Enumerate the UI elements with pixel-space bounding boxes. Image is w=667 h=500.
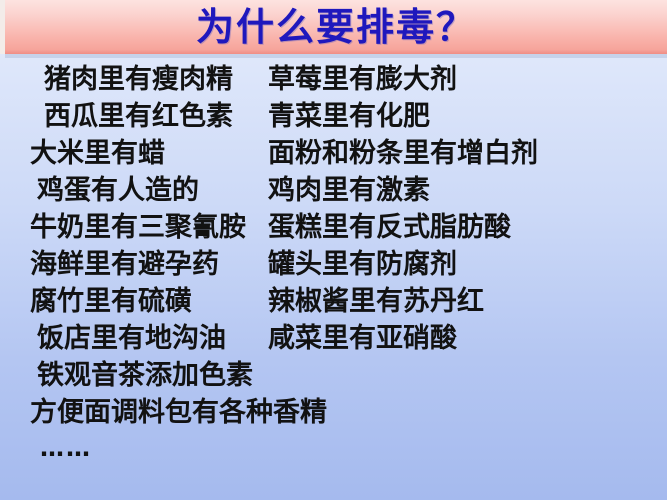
list-item-right-text: 罐头里有防腐剂	[268, 242, 457, 281]
list-item: 饭店里有地沟油 咸菜里有亚硝酸	[0, 317, 667, 354]
list-item: 大米里有蜡 面粉和粉条里有增白剂	[0, 132, 667, 169]
list-item-right-text: 草莓里有膨大剂	[268, 57, 457, 96]
list-item-right-text: 辣椒酱里有苏丹红	[268, 279, 484, 318]
list-item: 腐竹里有硫磺 辣椒酱里有苏丹红	[0, 280, 667, 317]
list-item: 铁观音茶添加色素	[0, 354, 667, 391]
list-item-left-text: 西瓜里有红色素	[0, 94, 268, 133]
list-item: 鸡蛋有人造的 鸡肉里有激素	[0, 169, 667, 206]
list-item-right-text: 咸菜里有亚硝酸	[268, 316, 457, 355]
title-banner: 为什么要排毒？	[0, 0, 667, 54]
list-item-left-text: 方便面调料包有各种香精	[0, 390, 327, 429]
page-title: 为什么要排毒？	[5, 1, 667, 53]
list-item-left-text: 海鲜里有避孕药	[0, 242, 268, 281]
list-item-left-text: 腐竹里有硫磺	[0, 279, 268, 318]
list-item-right-text: 蛋糕里有反式脂肪酸	[268, 205, 511, 244]
list-item: 方便面调料包有各种香精	[0, 391, 667, 428]
toxin-list: 猪肉里有瘦肉精 草莓里有膨大剂 西瓜里有红色素 青菜里有化肥 大米里有蜡 面粉和…	[0, 58, 667, 468]
list-item: 西瓜里有红色素 青菜里有化肥	[0, 95, 667, 132]
list-item: 猪肉里有瘦肉精 草莓里有膨大剂	[0, 58, 667, 95]
list-item-left-text: 铁观音茶添加色素	[0, 353, 253, 392]
list-item-right-text: 面粉和粉条里有增白剂	[268, 131, 538, 170]
list-item-left-text: 猪肉里有瘦肉精	[0, 57, 268, 96]
list-item-right-text: 鸡肉里有激素	[268, 168, 430, 207]
list-item-left-text: 鸡蛋有人造的	[0, 168, 268, 207]
list-item: 海鲜里有避孕药 罐头里有防腐剂	[0, 243, 667, 280]
list-ellipsis: ……	[0, 428, 667, 468]
list-item-right-text: 青菜里有化肥	[268, 94, 430, 133]
list-item-left-text: 饭店里有地沟油	[0, 316, 268, 355]
list-item: 牛奶里有三聚氰胺 蛋糕里有反式脂肪酸	[0, 206, 667, 243]
slide-canvas: 为什么要排毒？ 猪肉里有瘦肉精 草莓里有膨大剂 西瓜里有红色素 青菜里有化肥 大…	[0, 0, 667, 500]
list-item-left-text: 牛奶里有三聚氰胺	[0, 205, 268, 244]
list-item-left-text: 大米里有蜡	[0, 131, 268, 170]
